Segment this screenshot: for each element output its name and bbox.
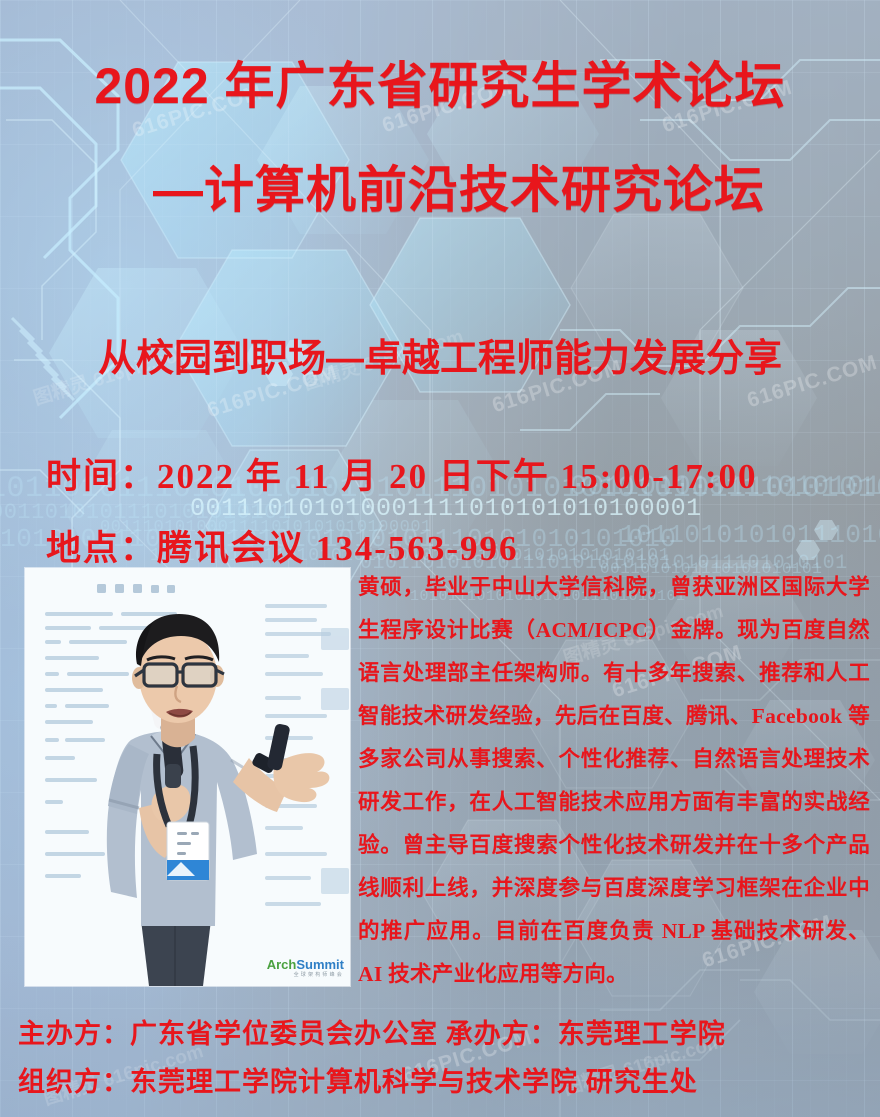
binary-strip: 1011010101011101010101010101110101010 (620, 520, 880, 550)
archsummit-logo: ArchSummit 全球架构师峰会 (267, 958, 344, 978)
poster-title-line1: 2022 年广东省研究生学术论坛 (0, 60, 880, 113)
poster-title-line2: —计算机前沿技术研究论坛 (0, 164, 880, 217)
poster-root: 1011010111010101010101011101010101010101… (0, 0, 880, 1117)
footer-organizers-line2: 组织方：东莞理工学院计算机科学与技术学院 研究生处 (18, 1060, 698, 1099)
speaker-bio: 黄硕，毕业于中山大学信科院，曾获亚洲区国际大学生程序设计比赛（ACM/ICPC）… (358, 566, 870, 996)
poster-subtitle: 从校园到职场—卓越工程师能力发展分享 (0, 327, 880, 382)
archsummit-logo-tagline: 全球架构师峰会 (267, 973, 344, 978)
archsummit-logo-summit: Summit (296, 957, 344, 972)
speaker-bio-text: 黄硕，毕业于中山大学信科院，曾获亚洲区国际大学生程序设计比赛（ACM/ICPC）… (358, 566, 870, 996)
footer-organizers-line1: 主办方：广东省学位委员会办公室 承办方：东莞理工学院 (18, 1012, 726, 1051)
event-time: 时间：2022 年 11 月 20 日下午 15:00-17:00 (46, 448, 758, 499)
speaker-photo-illustration: 演讲者手持话筒在讲台上演讲的照片 (25, 568, 350, 986)
event-location: 地点：腾讯会议 134-563-996 (46, 520, 519, 571)
archsummit-logo-arch: Arch (267, 957, 297, 972)
speaker-photo: 演讲者手持话筒在讲台上演讲的照片 (25, 568, 350, 986)
